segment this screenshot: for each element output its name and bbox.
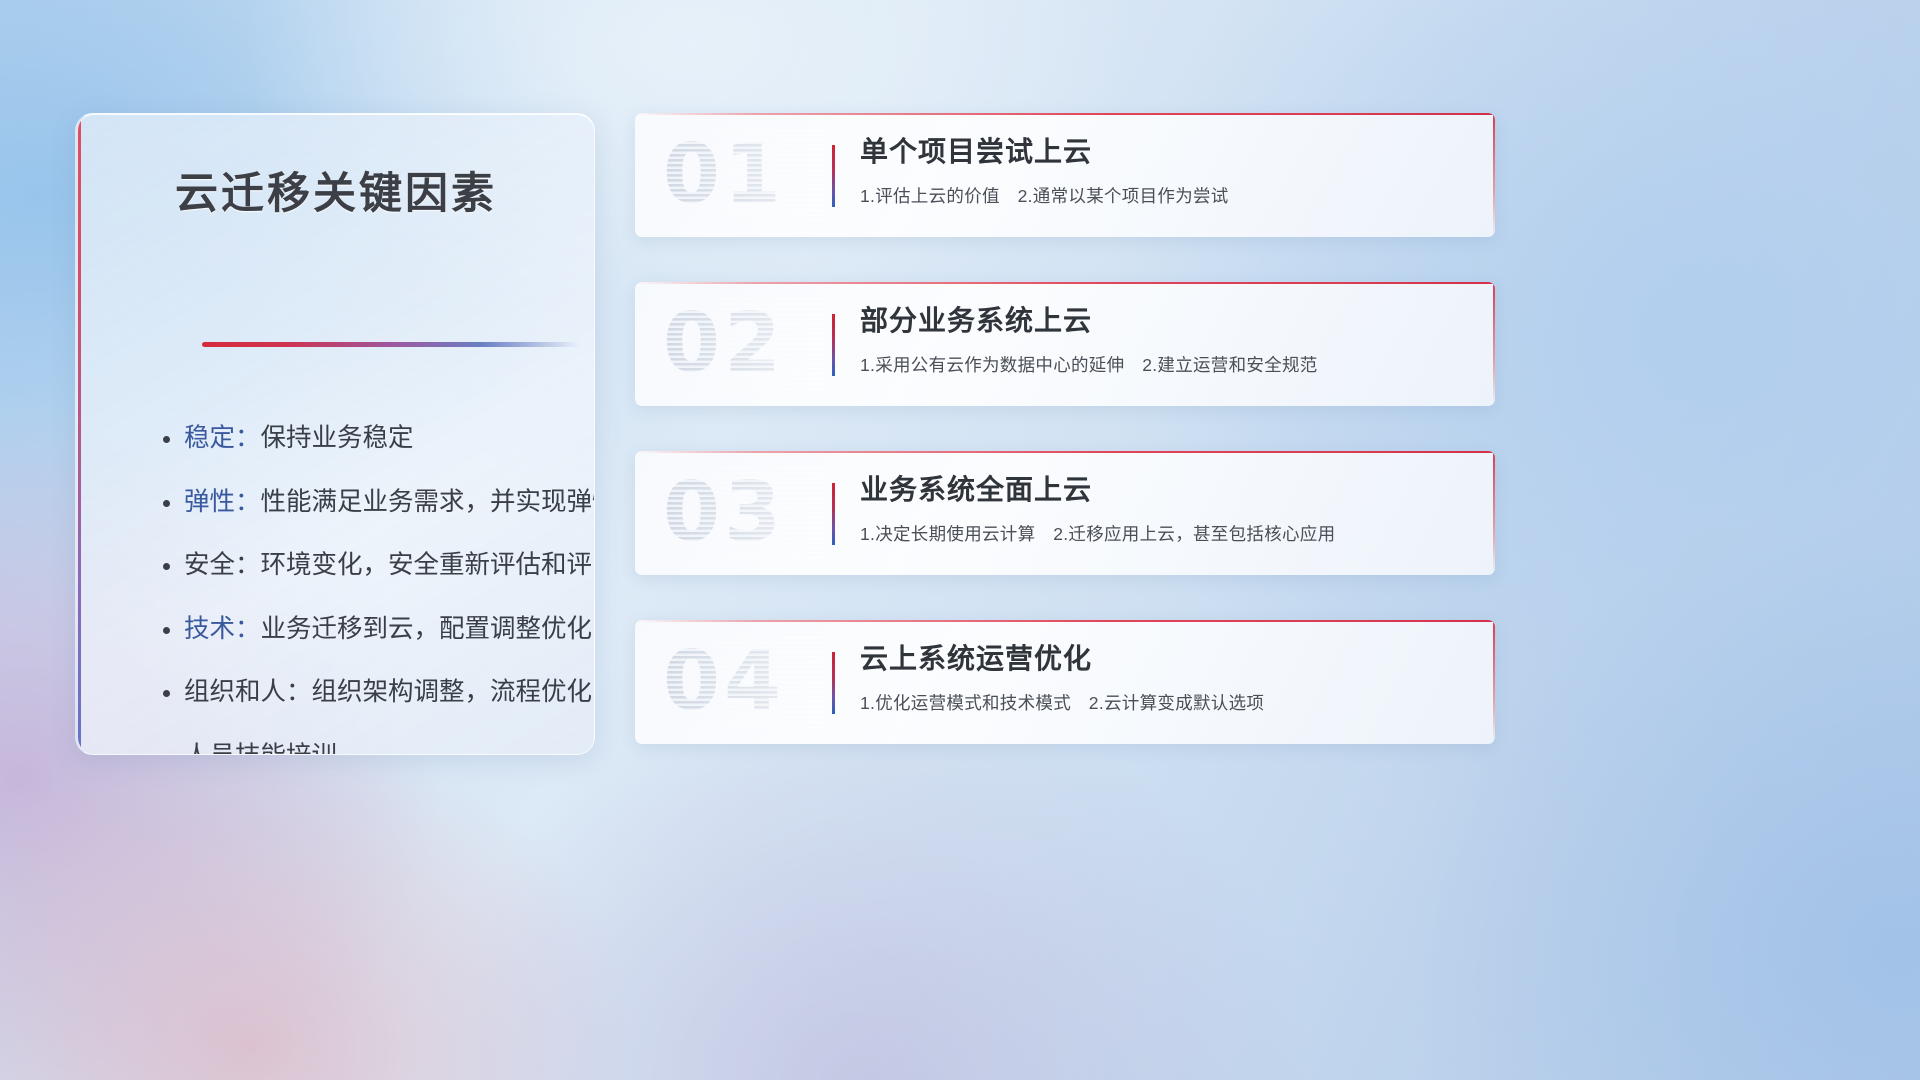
key-factors-panel: 云迁移关键因素 稳定：保持业务稳定弹性：性能满足业务需求，并实现弹性安全：环境变… <box>75 113 595 755</box>
stage-card-top-accent <box>635 451 1495 453</box>
key-factor-text: 保持业务稳定 <box>261 424 414 452</box>
panel-title-underline <box>202 342 580 347</box>
key-factor-text: 环境变化，安全重新评估和评审 <box>261 551 595 579</box>
stage-card-right-accent <box>1493 451 1495 575</box>
stage-title: 单个项目尝试上云 <box>860 135 1471 169</box>
key-factor-item: 弹性：性能满足业务需求，并实现弹性 <box>184 490 564 516</box>
stage-card-top-accent <box>635 620 1495 622</box>
key-factor-text: 组织架构调整，流程优化， <box>312 678 595 706</box>
stage-card-list: 01单个项目尝试上云1.评估上云的价值 2.通常以某个项目作为尝试02部分业务系… <box>635 113 1495 744</box>
stage-card-top-accent <box>635 113 1495 115</box>
stage-title: 业务系统全面上云 <box>860 473 1471 507</box>
stage-subtitle: 1.优化运营模式和技术模式 2.云计算变成默认选项 <box>860 690 1471 715</box>
stage-divider-bar <box>832 314 835 376</box>
stage-text-block: 云上系统运营优化1.优化运营模式和技术模式 2.云计算变成默认选项 <box>860 642 1471 715</box>
stage-divider-bar <box>832 483 835 545</box>
stage-title: 部分业务系统上云 <box>860 304 1471 338</box>
key-factor-text: 人员技能培训 <box>184 742 337 756</box>
stage-card[interactable]: 01单个项目尝试上云1.评估上云的价值 2.通常以某个项目作为尝试 <box>635 113 1495 237</box>
stage-title: 云上系统运营优化 <box>860 642 1471 676</box>
key-factor-text: 性能满足业务需求，并实现弹性 <box>261 488 595 516</box>
stage-divider-bar <box>832 652 835 714</box>
key-factor-item: 安全：环境变化，安全重新评估和评审 <box>184 553 564 579</box>
key-factors-list: 稳定：保持业务稳定弹性：性能满足业务需求，并实现弹性安全：环境变化，安全重新评估… <box>184 426 564 755</box>
stage-text-block: 业务系统全面上云1.决定长期使用云计算 2.迁移应用上云，甚至包括核心应用 <box>860 473 1471 546</box>
stage-number: 03 <box>663 467 823 559</box>
stage-subtitle: 1.决定长期使用云计算 2.迁移应用上云，甚至包括核心应用 <box>860 521 1471 546</box>
key-factor-label: 弹性： <box>184 488 261 516</box>
stage-card[interactable]: 02部分业务系统上云1.采用公有云作为数据中心的延伸 2.建立运营和安全规范 <box>635 282 1495 406</box>
stage-text-block: 部分业务系统上云1.采用公有云作为数据中心的延伸 2.建立运营和安全规范 <box>860 304 1471 377</box>
stage-text-block: 单个项目尝试上云1.评估上云的价值 2.通常以某个项目作为尝试 <box>860 135 1471 208</box>
key-factor-label: 组织和人： <box>184 678 312 706</box>
stage-number: 02 <box>663 298 823 390</box>
key-factor-item: 稳定：保持业务稳定 <box>184 426 564 452</box>
stage-card-right-accent <box>1493 113 1495 237</box>
key-factor-label: 技术： <box>184 615 261 643</box>
stage-subtitle: 1.采用公有云作为数据中心的延伸 2.建立运营和安全规范 <box>860 352 1471 377</box>
key-factor-text: 业务迁移到云，配置调整优化 <box>261 615 593 643</box>
key-factor-label: 安全： <box>184 551 261 579</box>
stage-card-right-accent <box>1493 620 1495 744</box>
stage-card-top-accent <box>635 282 1495 284</box>
stage-card[interactable]: 04云上系统运营优化1.优化运营模式和技术模式 2.云计算变成默认选项 <box>635 620 1495 744</box>
stage-subtitle: 1.评估上云的价值 2.通常以某个项目作为尝试 <box>860 183 1471 208</box>
stage-divider-bar <box>832 145 835 207</box>
key-factor-label: 稳定： <box>184 424 261 452</box>
stage-card[interactable]: 03业务系统全面上云1.决定长期使用云计算 2.迁移应用上云，甚至包括核心应用 <box>635 451 1495 575</box>
key-factor-item: 组织和人：组织架构调整，流程优化， <box>184 680 564 706</box>
stage-number: 04 <box>663 636 823 728</box>
key-factor-item: 人员技能培训 <box>184 744 564 756</box>
stage-card-right-accent <box>1493 282 1495 406</box>
stage-number: 01 <box>663 129 823 221</box>
panel-title: 云迁移关键因素 <box>78 159 594 221</box>
key-factor-item: 技术：业务迁移到云，配置调整优化 <box>184 617 564 643</box>
